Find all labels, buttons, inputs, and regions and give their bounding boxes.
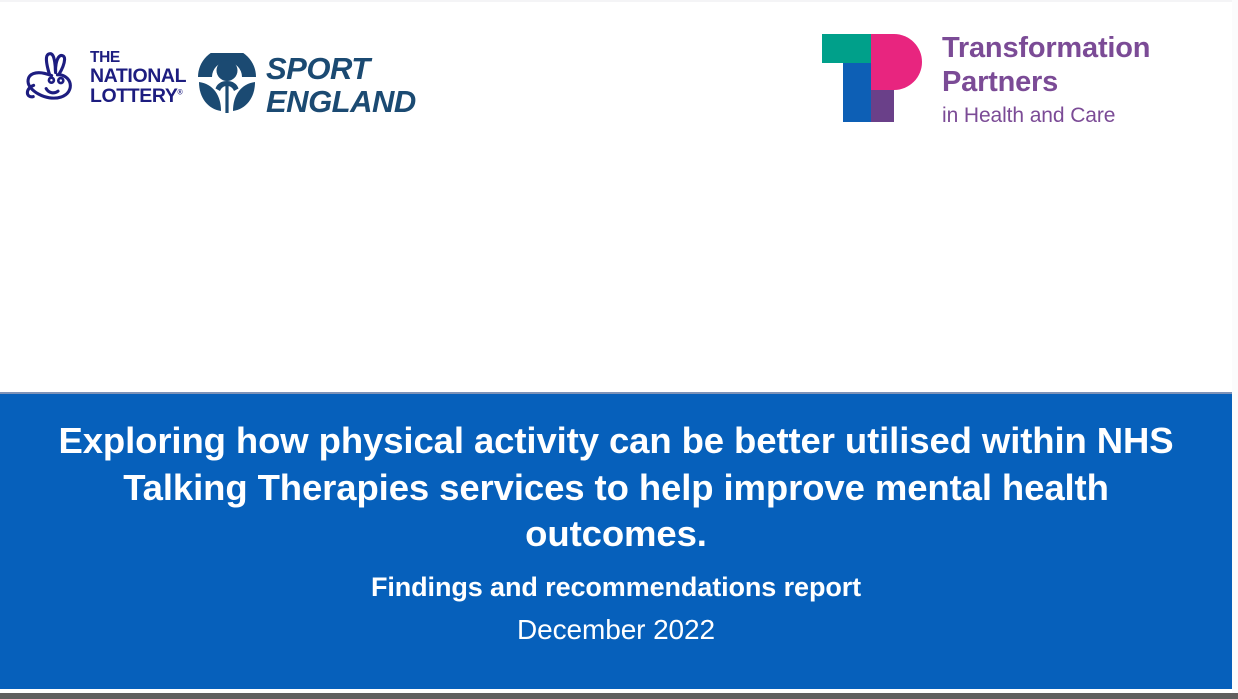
tp-monogram-icon: [818, 32, 924, 124]
lottery-line-the: THE: [90, 50, 190, 66]
tp-line-in-health-and-care: in Health and Care: [942, 102, 1192, 129]
lottery-lottery-text: LOTTERY: [90, 85, 177, 107]
sport-england-line-england: ENGLAND: [266, 85, 416, 118]
tp-line-transformation: Transformation: [942, 31, 1192, 65]
transformation-partners-wordmark: Transformation Partners in Health and Ca…: [942, 31, 1192, 130]
page-title: Exploring how physical activity can be b…: [50, 418, 1182, 558]
sport-england-logo: SPORT ENGLAND: [196, 50, 434, 114]
tp-line-partners: Partners: [942, 65, 1192, 99]
banner-top-edge: [0, 392, 1232, 394]
person-in-circle-icon: [196, 53, 258, 113]
sport-england-wordmark: SPORT ENGLAND: [266, 52, 416, 119]
title-banner: Exploring how physical activity can be b…: [0, 392, 1232, 689]
lottery-line-lottery: LOTTERY®: [90, 87, 190, 107]
report-date: December 2022: [50, 614, 1182, 646]
bottom-gutter: [0, 693, 1238, 699]
lottery-trademark: ®: [177, 90, 182, 97]
report-subtitle: Findings and recommendations report: [50, 572, 1182, 603]
lottery-line-national: NATIONAL: [90, 67, 190, 87]
national-lottery-wordmark: THE NATIONAL LOTTERY®: [90, 50, 190, 107]
logo-row: THE NATIONAL LOTTERY®: [0, 0, 1232, 150]
right-gutter: [1232, 0, 1238, 699]
national-lottery-logo: THE NATIONAL LOTTERY®: [24, 47, 190, 113]
slide-canvas: THE NATIONAL LOTTERY®: [0, 0, 1232, 693]
crossed-fingers-hand-icon: [24, 49, 86, 111]
transformation-partners-logo: Transformation Partners in Health and Ca…: [818, 32, 1188, 130]
sport-england-line-sport: SPORT: [266, 52, 416, 85]
